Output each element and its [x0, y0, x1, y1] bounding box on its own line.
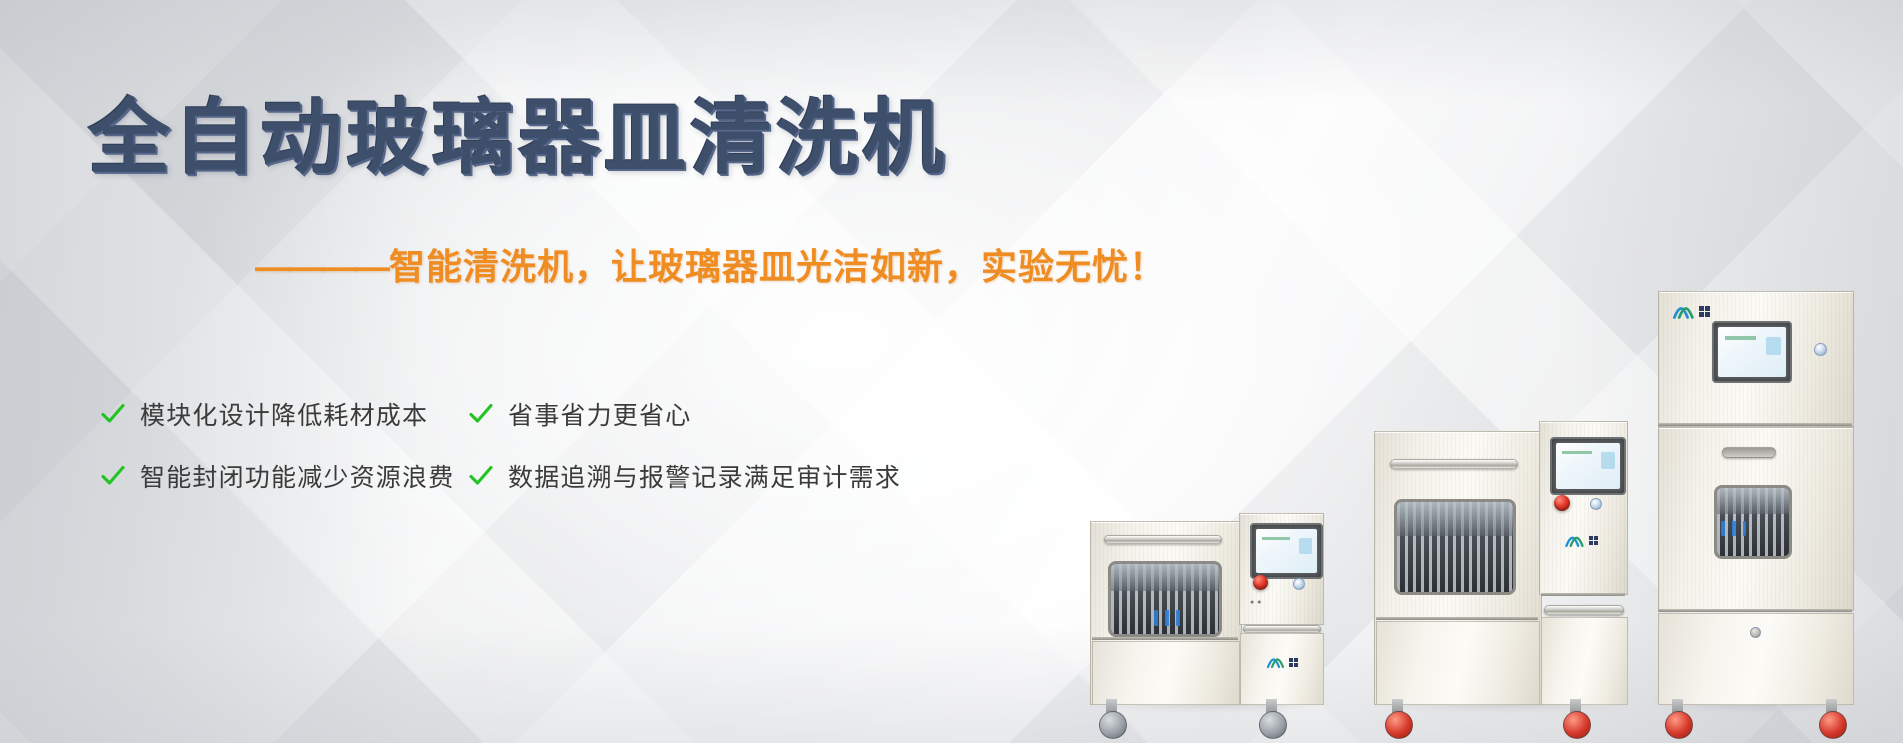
caster-wheel — [1099, 711, 1127, 739]
check-icon — [100, 463, 126, 489]
dash-prefix: ———— — [255, 246, 387, 287]
brand-logo — [1564, 533, 1598, 548]
touchscreen-display[interactable] — [1712, 321, 1792, 383]
product-image-freestanding-washer — [1374, 421, 1626, 703]
page-title: 全自动玻璃器皿清洗机 — [88, 96, 948, 183]
tower-handle — [1544, 605, 1624, 615]
chamber-ceiling — [1717, 488, 1789, 514]
panel-seam — [1658, 609, 1852, 612]
product-image-tall-column-washer — [1658, 291, 1852, 703]
emergency-stop-button[interactable] — [1253, 575, 1268, 590]
logo-mark-icon — [1266, 655, 1286, 669]
touchscreen-display[interactable] — [1250, 523, 1323, 579]
product-image-undercounter-washer: ● ● — [1090, 513, 1322, 703]
door-handle — [1104, 535, 1222, 544]
viewing-window — [1394, 499, 1516, 595]
feature-label: 智能封闭功能减少资源浪费 — [140, 458, 454, 494]
product-hero-banner: 全自动玻璃器皿清洗机 ————智能清洗机，让玻璃器皿光洁如新，实验无忧！ 模块化… — [0, 0, 1903, 743]
power-indicator[interactable] — [1293, 578, 1305, 590]
panel-seam — [1376, 617, 1538, 620]
logo-squares-icon — [1589, 536, 1598, 545]
check-icon — [468, 463, 494, 489]
product-image-group: ● ● — [1090, 0, 1903, 743]
caster-wheel — [1819, 711, 1847, 739]
tower-handle — [1243, 625, 1321, 633]
check-icon — [468, 401, 494, 427]
feature-label: 模块化设计降低耗材成本 — [140, 396, 428, 432]
vent-slot — [1722, 447, 1776, 458]
touchscreen-display[interactable] — [1550, 437, 1626, 495]
tower-lower-panel — [1541, 617, 1628, 705]
check-icon — [100, 401, 126, 427]
brand-logo — [1672, 303, 1710, 320]
logo-mark-icon — [1564, 533, 1586, 548]
tower-lower-panel — [1240, 633, 1324, 705]
feature-label: 省事省力更省心 — [508, 396, 691, 432]
viewing-window — [1714, 485, 1792, 559]
section-seam — [1658, 423, 1852, 426]
logo-squares-icon — [1699, 306, 1710, 317]
feature-item-labor-saving: 省事省力更省心 — [468, 383, 1000, 445]
feature-item-modular-design: 模块化设计降低耗材成本 — [100, 383, 468, 445]
chamber-ceiling — [1397, 502, 1513, 536]
caster-wheel — [1259, 711, 1287, 739]
brand-logo — [1266, 655, 1298, 669]
feature-list: 模块化设计降低耗材成本 省事省力更省心 智能封闭功能减少资源浪费 数据追溯与报警… — [100, 383, 1000, 507]
subtitle-text: 智能清洗机，让玻璃器皿光洁如新，实验无忧！ — [389, 246, 1166, 287]
emergency-stop-button[interactable] — [1554, 495, 1570, 511]
panel-latch[interactable] — [1750, 627, 1761, 638]
panel-seam — [1092, 637, 1238, 640]
lower-access-panel — [1376, 621, 1540, 705]
caster-wheel — [1563, 711, 1591, 739]
logo-mark-icon — [1672, 303, 1696, 320]
control-label: ● ● — [1250, 599, 1262, 606]
power-indicator[interactable] — [1590, 498, 1602, 510]
screen-face — [1256, 529, 1317, 573]
subtitle: ————智能清洗机，让玻璃器皿光洁如新，实验无忧！ — [255, 238, 1166, 290]
caster-wheel — [1665, 711, 1693, 739]
screen-face — [1718, 327, 1786, 377]
power-indicator[interactable] — [1814, 343, 1827, 356]
feature-item-closed-loop: 智能封闭功能减少资源浪费 — [100, 445, 468, 507]
lower-access-panel — [1092, 641, 1240, 705]
caster-wheel — [1385, 711, 1413, 739]
door-handle — [1390, 459, 1518, 469]
feature-label: 数据追溯与报警记录满足审计需求 — [508, 458, 901, 494]
tower-seam — [1541, 593, 1625, 596]
feature-item-audit-trace: 数据追溯与报警记录满足审计需求 — [468, 445, 1000, 507]
logo-squares-icon — [1289, 658, 1298, 667]
chamber-ceiling — [1111, 564, 1219, 591]
blue-rack-pegs — [1721, 521, 1745, 536]
copy-block: 全自动玻璃器皿清洗机 ————智能清洗机，让玻璃器皿光洁如新，实验无忧！ 模块化… — [0, 0, 1120, 743]
viewing-window — [1108, 561, 1222, 637]
screen-face — [1556, 443, 1620, 489]
blue-rack-pegs — [1154, 610, 1186, 625]
